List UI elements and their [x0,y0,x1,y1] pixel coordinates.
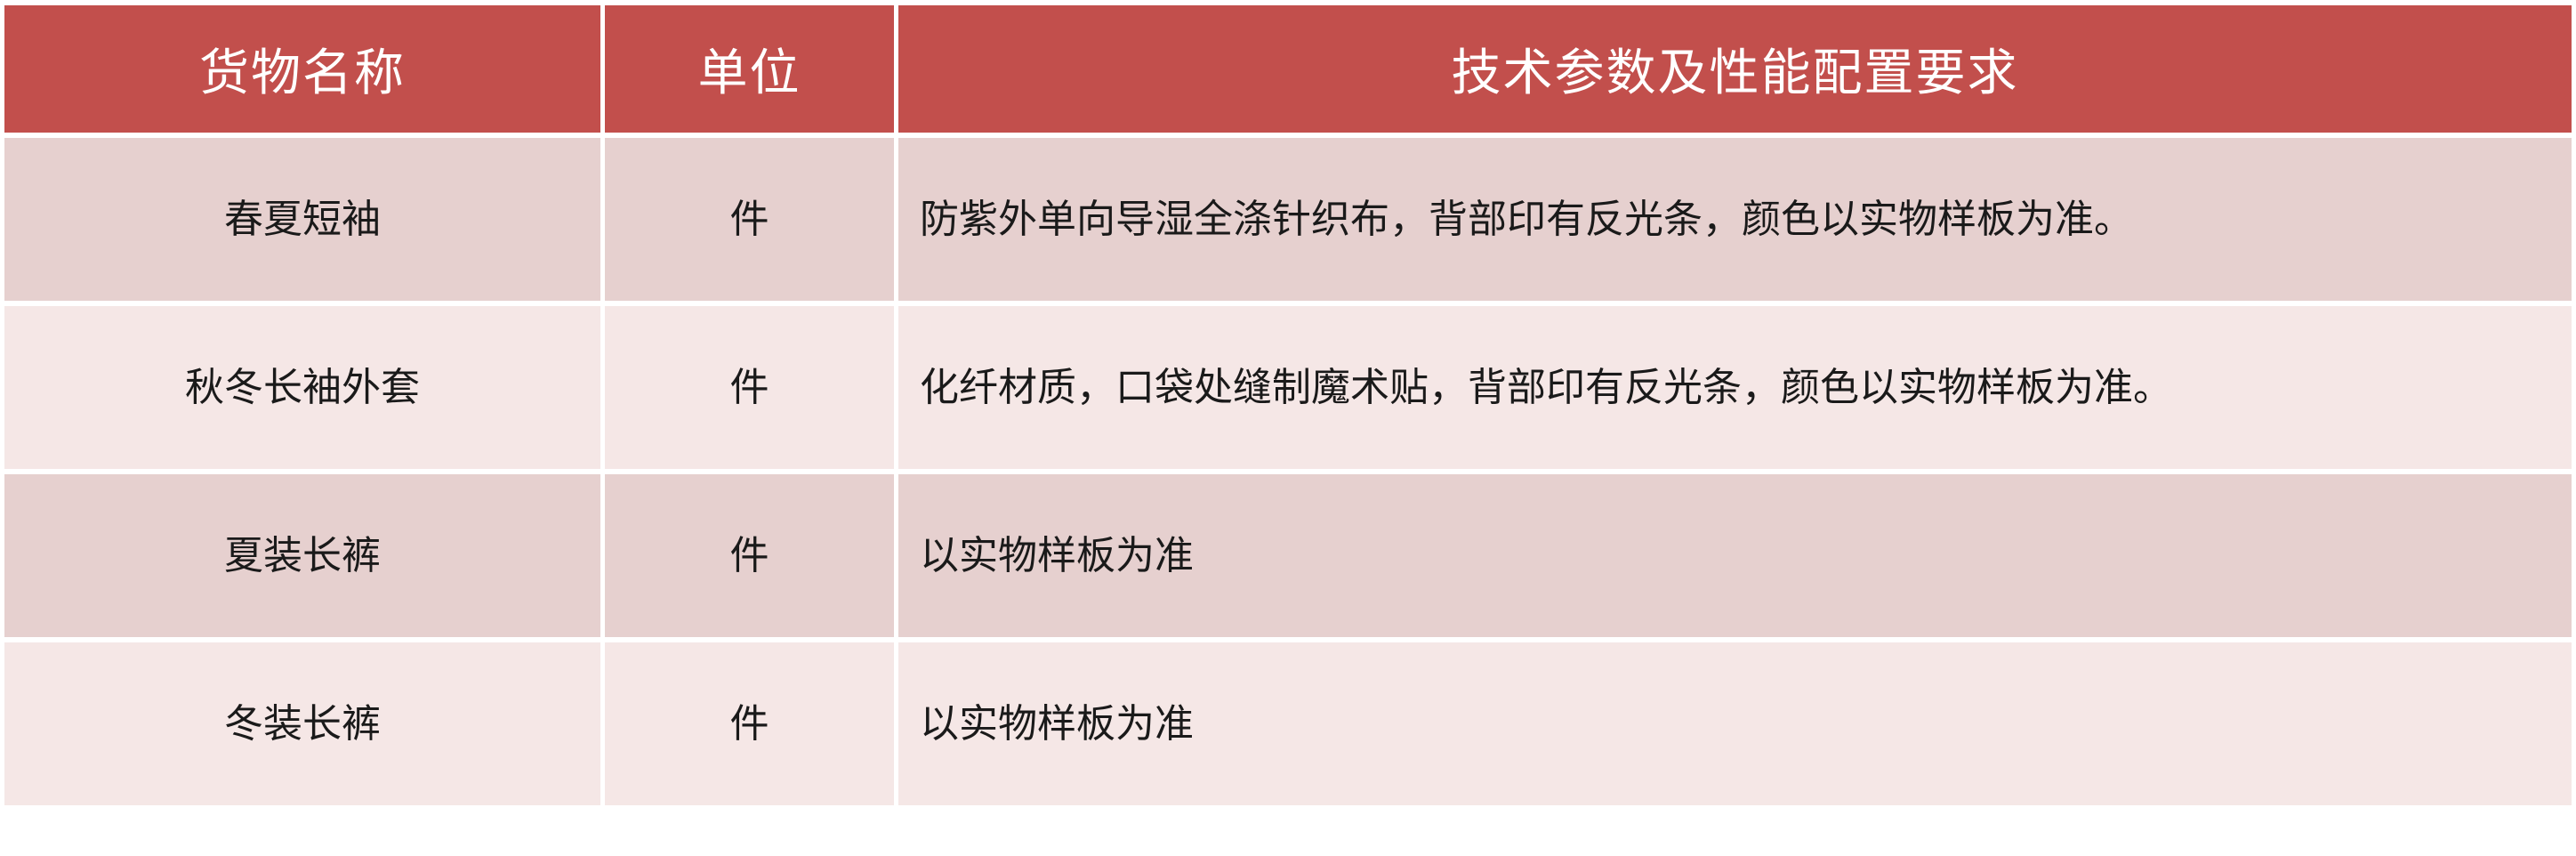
cell-goods-name: 秋冬长袖外套 [4,306,600,469]
cell-unit: 件 [605,138,894,301]
column-header-goods-name: 货物名称 [4,5,600,133]
column-header-unit: 单位 [605,5,894,133]
goods-specification-table: 货物名称 单位 技术参数及性能配置要求 春夏短袖 件 防紫外单向导湿全涤针织布，… [0,0,2576,811]
cell-unit: 件 [605,642,894,805]
column-header-technical-spec: 技术参数及性能配置要求 [898,5,2572,133]
table-row: 冬装长裤 件 以实物样板为准 [4,642,2572,805]
table-row: 春夏短袖 件 防紫外单向导湿全涤针织布，背部印有反光条，颜色以实物样板为准。 [4,138,2572,301]
cell-goods-name: 夏装长裤 [4,474,600,637]
cell-unit: 件 [605,306,894,469]
cell-technical-spec: 以实物样板为准 [898,642,2572,805]
table-header: 货物名称 单位 技术参数及性能配置要求 [4,5,2572,133]
table-row: 秋冬长袖外套 件 化纤材质，口袋处缝制魔术贴，背部印有反光条，颜色以实物样板为准… [4,306,2572,469]
cell-unit: 件 [605,474,894,637]
table-row: 夏装长裤 件 以实物样板为准 [4,474,2572,637]
cell-technical-spec: 防紫外单向导湿全涤针织布，背部印有反光条，颜色以实物样板为准。 [898,138,2572,301]
cell-goods-name: 春夏短袖 [4,138,600,301]
cell-goods-name: 冬装长裤 [4,642,600,805]
cell-technical-spec: 化纤材质，口袋处缝制魔术贴，背部印有反光条，颜色以实物样板为准。 [898,306,2572,469]
table-body: 春夏短袖 件 防紫外单向导湿全涤针织布，背部印有反光条，颜色以实物样板为准。 秋… [4,138,2572,805]
cell-technical-spec: 以实物样板为准 [898,474,2572,637]
table-header-row: 货物名称 单位 技术参数及性能配置要求 [4,5,2572,133]
